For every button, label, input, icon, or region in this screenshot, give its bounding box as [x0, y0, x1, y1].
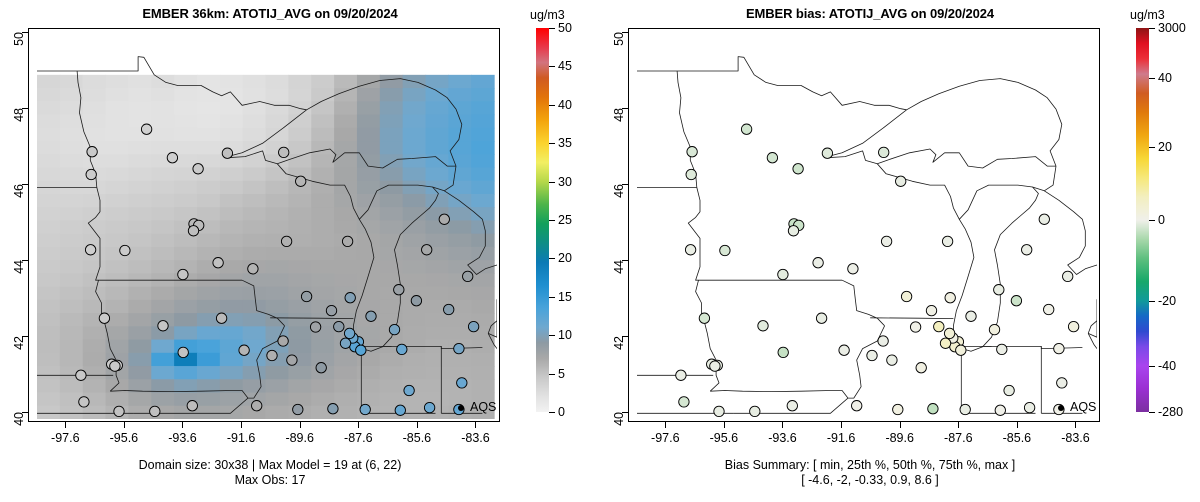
- colorbar-tick: [549, 105, 555, 106]
- model-caption-line1: Domain size: 30x38 | Max Model = 19 at (…: [0, 458, 540, 473]
- x-tick: [665, 422, 666, 428]
- colorbar-tick-label: 25: [558, 213, 572, 227]
- x-tick: [1075, 422, 1076, 428]
- bias-longitude-axis: -97.6-95.6-93.6-91.6-89.6-87.6-85.6-83.6: [628, 422, 1100, 448]
- y-tick-label: 48: [612, 108, 626, 122]
- colorbar-tick: [549, 66, 555, 67]
- x-tick-label: -83.6: [1061, 431, 1090, 445]
- colorbar-tick: [549, 374, 555, 375]
- model-map-svg: [37, 33, 497, 419]
- colorbar-tick: [549, 258, 555, 259]
- x-tick: [841, 422, 842, 428]
- bias-page-title: EMBER bias: ATOTIJ_AVG on 09/20/2024: [600, 6, 1140, 21]
- bias-latitude-axis: 404244464850: [600, 28, 628, 422]
- colorbar-tick-label: 0: [1158, 213, 1165, 227]
- x-tick-label: -87.6: [944, 431, 973, 445]
- y-tick-label: 42: [612, 336, 626, 350]
- colorbar-tick-label: 20: [1158, 140, 1172, 154]
- x-tick: [417, 422, 418, 428]
- x-tick: [958, 422, 959, 428]
- y-tick-label: 46: [612, 184, 626, 198]
- y-tick-label: 40: [612, 412, 626, 426]
- colorbar-tick: [1149, 366, 1155, 367]
- colorbar-tick: [549, 297, 555, 298]
- x-tick: [1017, 422, 1018, 428]
- colorbar-tick: [549, 28, 555, 29]
- x-tick-label: -97.6: [51, 431, 80, 445]
- colorbar-tick-label: 5: [558, 367, 565, 381]
- x-tick-label: -89.6: [285, 431, 314, 445]
- x-tick: [475, 422, 476, 428]
- model-raster-layer: [37, 33, 497, 419]
- x-tick: [241, 422, 242, 428]
- colorbar-tick-label: 35: [558, 136, 572, 150]
- colorbar-tick: [1149, 220, 1155, 221]
- y-tick-label: 42: [12, 336, 26, 350]
- model-colorbar-gradient: [536, 28, 549, 412]
- colorbar-tick-label: 0: [558, 405, 565, 419]
- colorbar-tick: [1149, 28, 1155, 29]
- colorbar-tick-label: -20: [1158, 294, 1176, 308]
- model-map-plot: [28, 28, 500, 422]
- x-tick: [782, 422, 783, 428]
- x-tick: [724, 422, 725, 428]
- bias-caption-line1: Bias Summary: [ min, 25th %, 50th %, 75t…: [600, 458, 1140, 473]
- y-tick-label: 40: [12, 412, 26, 426]
- latitude-axis: 404244464850: [0, 28, 28, 422]
- bias-map-svg: [637, 33, 1097, 419]
- bias-caption-line2: [ -4.6, -2, -0.33, 0.9, 8.6 ]: [600, 473, 1140, 488]
- colorbar-tick-label: 20: [558, 251, 572, 265]
- colorbar-tick-label: -280: [1158, 405, 1183, 419]
- colorbar-tick: [549, 182, 555, 183]
- panel-model: EMBER 36km: ATOTIJ_AVG on 09/20/2024 404…: [0, 0, 600, 502]
- colorbar-tick-label: 50: [558, 21, 572, 35]
- colorbar-tick: [1149, 147, 1155, 148]
- colorbar-tick-label: -40: [1158, 359, 1176, 373]
- aqs-legend-label: AQS: [470, 400, 496, 414]
- bias-caption: Bias Summary: [ min, 25th %, 50th %, 75t…: [600, 458, 1140, 488]
- aqs-legend-dot-icon: [458, 405, 464, 411]
- page-title: EMBER 36km: ATOTIJ_AVG on 09/20/2024: [0, 6, 540, 21]
- colorbar-tick: [1149, 78, 1155, 79]
- colorbar-tick-label: 15: [558, 290, 572, 304]
- bias-aqs-legend-label: AQS: [1070, 400, 1096, 414]
- x-tick-label: -89.6: [885, 431, 914, 445]
- bias-map-plot: [628, 28, 1100, 422]
- x-tick-label: -91.6: [227, 431, 256, 445]
- colorbar-tick-label: 30: [558, 175, 572, 189]
- figure-root: EMBER 36km: ATOTIJ_AVG on 09/20/2024 404…: [0, 0, 1200, 502]
- x-tick-label: -83.6: [461, 431, 490, 445]
- y-tick-label: 44: [12, 260, 26, 274]
- x-tick-label: -91.6: [827, 431, 856, 445]
- colorbar-tick-label: 10: [558, 328, 572, 342]
- colorbar-tick-label: 45: [558, 59, 572, 73]
- model-caption: Domain size: 30x38 | Max Model = 19 at (…: [0, 458, 540, 488]
- y-tick-label: 50: [12, 32, 26, 46]
- colorbar-tick: [1149, 412, 1155, 413]
- y-tick-label: 46: [12, 184, 26, 198]
- colorbar-tick: [549, 335, 555, 336]
- colorbar-tick: [549, 220, 555, 221]
- x-tick-label: -95.6: [710, 431, 739, 445]
- bias-colorbar-unit: ug/m3: [1130, 8, 1165, 22]
- x-tick: [358, 422, 359, 428]
- y-tick-label: 48: [12, 108, 26, 122]
- bias-colorbar-gradient: [1136, 28, 1149, 412]
- x-tick-label: -93.6: [768, 431, 797, 445]
- bias-aqs-legend-dot-icon: [1058, 405, 1064, 411]
- x-tick: [65, 422, 66, 428]
- colorbar-tick-label: 3000: [1158, 21, 1186, 35]
- x-tick: [300, 422, 301, 428]
- colorbar-tick: [549, 412, 555, 413]
- model-caption-line2: Max Obs: 17: [0, 473, 540, 488]
- colorbar-tick: [549, 143, 555, 144]
- colorbar-tick-label: 40: [558, 98, 572, 112]
- x-tick-label: -85.6: [403, 431, 432, 445]
- x-tick-label: -87.6: [344, 431, 373, 445]
- y-tick-label: 50: [612, 32, 626, 46]
- x-tick: [182, 422, 183, 428]
- x-tick-label: -93.6: [168, 431, 197, 445]
- x-tick-label: -95.6: [110, 431, 139, 445]
- panel-bias: EMBER bias: ATOTIJ_AVG on 09/20/2024 404…: [600, 0, 1200, 502]
- x-tick: [900, 422, 901, 428]
- x-tick-label: -85.6: [1003, 431, 1032, 445]
- y-tick-label: 44: [612, 260, 626, 274]
- x-tick-label: -97.6: [651, 431, 680, 445]
- model-colorbar-unit: ug/m3: [530, 8, 565, 22]
- x-tick: [124, 422, 125, 428]
- longitude-axis: -97.6-95.6-93.6-91.6-89.6-87.6-85.6-83.6: [28, 422, 500, 448]
- bias-marker-layer: [637, 33, 1097, 419]
- colorbar-tick: [1149, 301, 1155, 302]
- colorbar-tick-label: 40: [1158, 71, 1172, 85]
